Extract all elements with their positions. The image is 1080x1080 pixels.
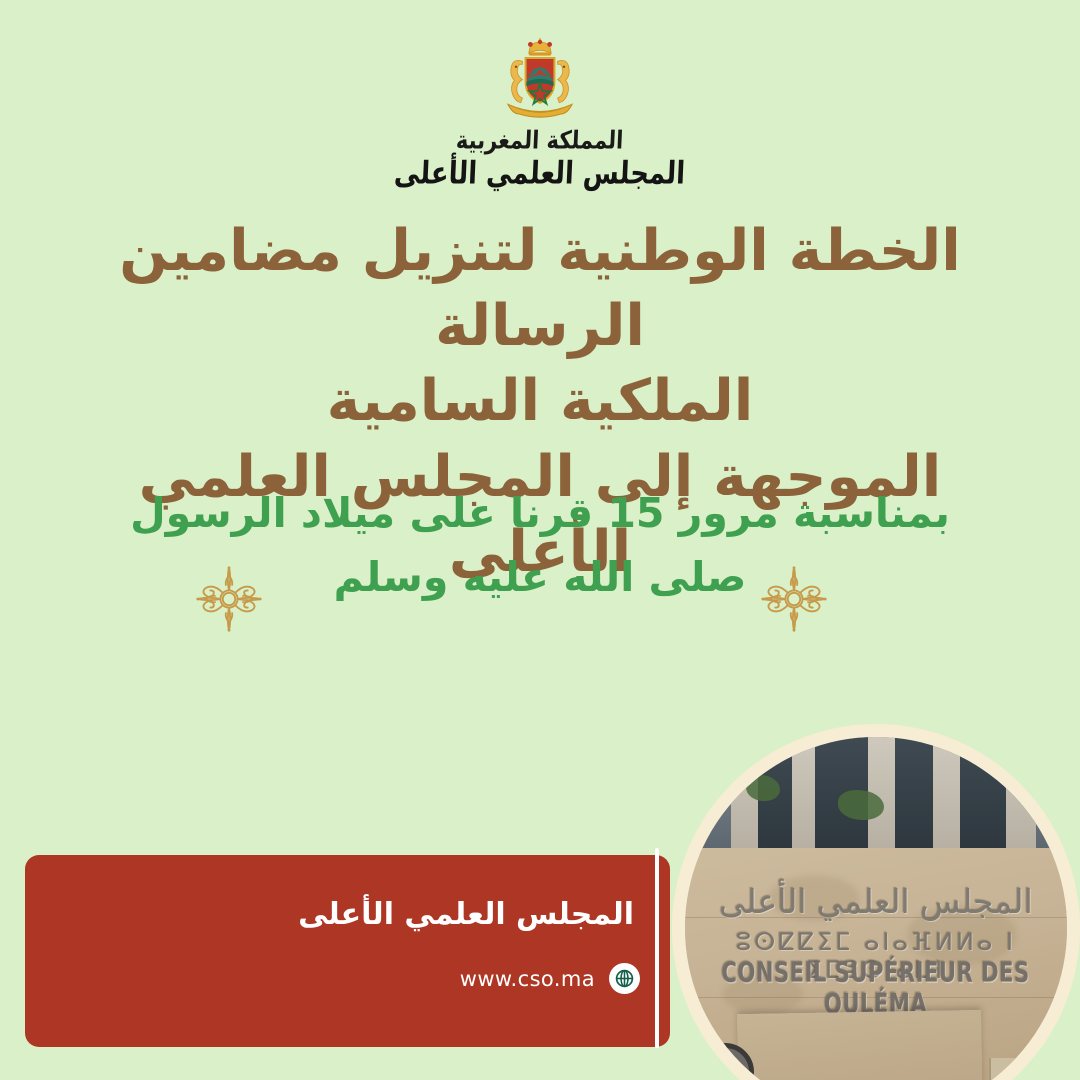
photo-column [792, 737, 815, 855]
photo-foliage [746, 775, 780, 801]
moroccan-coat-of-arms-icon [492, 34, 588, 122]
footer-website-row[interactable]: www.cso.ma [460, 963, 640, 994]
footer-bar: المجلس العلمي الأعلى www.cso.ma [25, 855, 670, 1047]
floral-ornament-right-icon [755, 560, 833, 638]
footer-organization-name: المجلس العلمي الأعلى [298, 897, 634, 932]
building-photo: المجلس العلمي الأعلى ⵓⵙⵇⵇⵉⵎ ⴰⵏⴰⴼⵍⵍⴰ ⵏ ⵉⵎ… [685, 737, 1067, 1080]
footer-website-url[interactable]: www.cso.ma [460, 967, 595, 991]
title-line-1: الخطة الوطنية لتنزيل مضامين الرسالة [50, 214, 1030, 364]
sign-arabic-text: المجلس العلمي الأعلى [700, 882, 1051, 921]
council-calligraphy: المجلس العلمي الأعلى [394, 156, 687, 192]
title-line-2: الملكية السامية [50, 364, 1030, 439]
photo-stone-plaque [737, 1010, 983, 1080]
photo-stone-block [989, 1058, 1059, 1080]
building-photo-circle: المجلس العلمي الأعلى ⵓⵙⵇⵇⵉⵎ ⴰⵏⴰⴼⵍⵍⴰ ⵏ ⵉⵎ… [672, 724, 1080, 1080]
emblem-header: المملكة المغربية المجلس العلمي الأعلى [0, 34, 1080, 189]
photo-column [1006, 737, 1037, 855]
kingdom-calligraphy: المملكة المغربية [456, 126, 625, 154]
footer-divider [655, 848, 659, 1048]
subtitle-line-2: صلى الله عليه وسلم [0, 546, 1080, 610]
subtitle: بمناسبة مرور 15 قرنا على ميلاد الرسول صل… [0, 482, 1080, 609]
poster-canvas: المملكة المغربية المجلس العلمي الأعلى ال… [0, 0, 1080, 1080]
photo-glass [960, 737, 1006, 855]
photo-glass [895, 737, 933, 855]
globe-icon [609, 963, 640, 994]
floral-ornament-left-icon [190, 560, 268, 638]
photo-column [933, 737, 960, 855]
subtitle-line-1: بمناسبة مرور 15 قرنا على ميلاد الرسول [0, 482, 1080, 546]
